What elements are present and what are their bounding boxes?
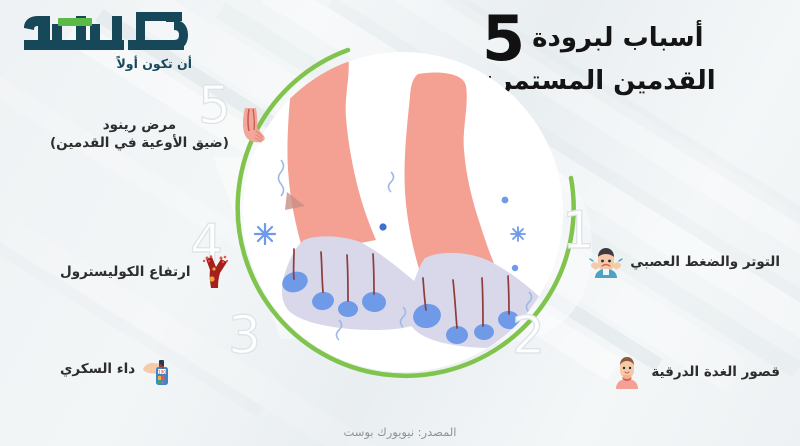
cause-label-2: قصور الغدة الدرقية	[651, 364, 780, 380]
okaz-logo[interactable]: أن تكون أولاً	[16, 6, 196, 78]
cause-label-3: داء السكري	[60, 361, 135, 377]
cold-dot	[379, 223, 386, 230]
cause-watermark-3: 3	[228, 310, 261, 362]
cause-row-3[interactable]: 190 داء السكري	[60, 352, 176, 386]
cause-watermark-2: 2	[512, 310, 545, 362]
cause-label-5-line-1: مرض رينود	[50, 117, 229, 135]
okaz-logo-mark	[16, 6, 196, 62]
stressed-person-icon	[589, 245, 623, 279]
logo-tagline: أن تكون أولاً	[117, 56, 193, 71]
cause-row-2[interactable]: قصور الغدة الدرقية	[610, 355, 780, 389]
logo-green-accent	[58, 18, 92, 26]
cause-row-4[interactable]: ارتفاع الكوليسترول	[60, 255, 232, 289]
svg-text:190: 190	[158, 370, 166, 375]
infographic-canvas: V O أن تكون أولاً	[0, 0, 800, 446]
cause-label-4: ارتفاع الكوليسترول	[60, 264, 191, 280]
thyroid-neck-icon	[610, 355, 644, 389]
cause-row-1[interactable]: التوتر والضغط العصبي	[589, 245, 780, 279]
cause-label-5: مرض رينود (ضيق الأوعية في القدمين)	[50, 117, 229, 153]
clogged-artery-icon	[198, 255, 232, 289]
source-credit: المصدر: نيويورك بوست	[0, 425, 800, 439]
glucose-meter-icon: 190	[142, 352, 176, 386]
cause-label-1: التوتر والضغط العصبي	[630, 254, 780, 270]
cold-dot	[502, 197, 509, 204]
cause-label-5-line-2: (ضيق الأوعية في القدمين)	[50, 135, 229, 153]
cause-row-5[interactable]: مرض رينود (ضيق الأوعية في القدمين)	[50, 113, 266, 153]
raynaud-foot-icon	[236, 107, 266, 151]
cold-dot	[512, 265, 518, 271]
